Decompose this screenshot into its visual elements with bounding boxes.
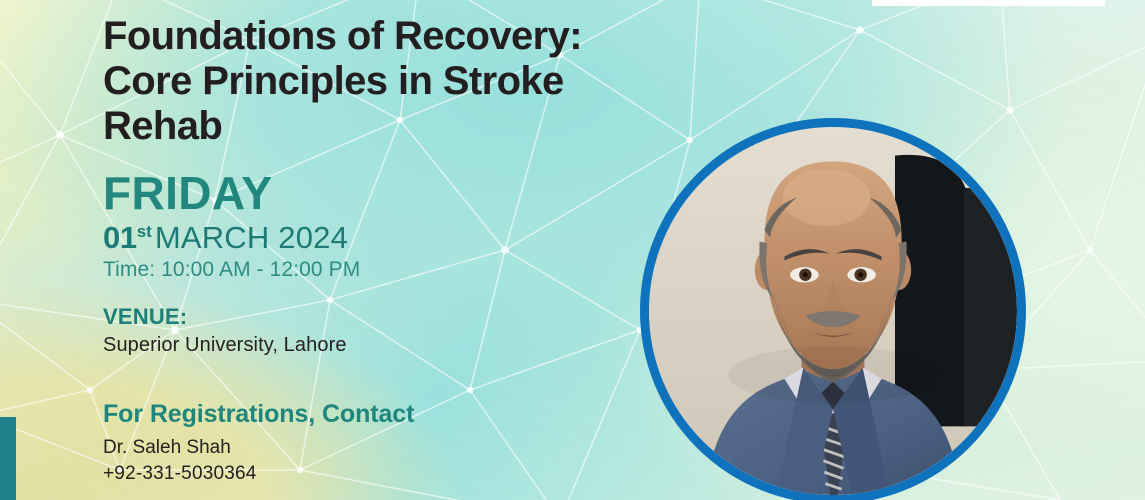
event-weekday: FRIDAY xyxy=(103,168,663,218)
event-date: 01stMARCH 2024 xyxy=(103,220,663,256)
registration-heading: For Registrations, Contact xyxy=(103,400,663,429)
page-title: Foundations of Recovery: Core Principles… xyxy=(103,14,663,149)
top-white-accent-bar xyxy=(872,0,1105,6)
venue-value: Superior University, Lahore xyxy=(103,333,663,358)
event-time: Time: 10:00 AM - 12:00 PM xyxy=(103,257,663,283)
contact-name: Dr. Saleh Shah xyxy=(103,435,663,460)
left-teal-accent-bar xyxy=(0,417,16,500)
venue-label: VENUE: xyxy=(103,304,663,330)
event-poster: Foundations of Recovery: Core Principles… xyxy=(0,0,1145,500)
event-date-ordinal: st xyxy=(137,222,152,241)
speaker-photo xyxy=(649,127,1017,495)
event-date-month-year: MARCH 2024 xyxy=(155,220,348,255)
poster-text-block: Foundations of Recovery: Core Principles… xyxy=(103,14,663,486)
contact-phone: +92-331-5030364 xyxy=(103,461,663,486)
event-date-day: 01 xyxy=(103,220,137,255)
speaker-portrait xyxy=(640,118,1026,500)
